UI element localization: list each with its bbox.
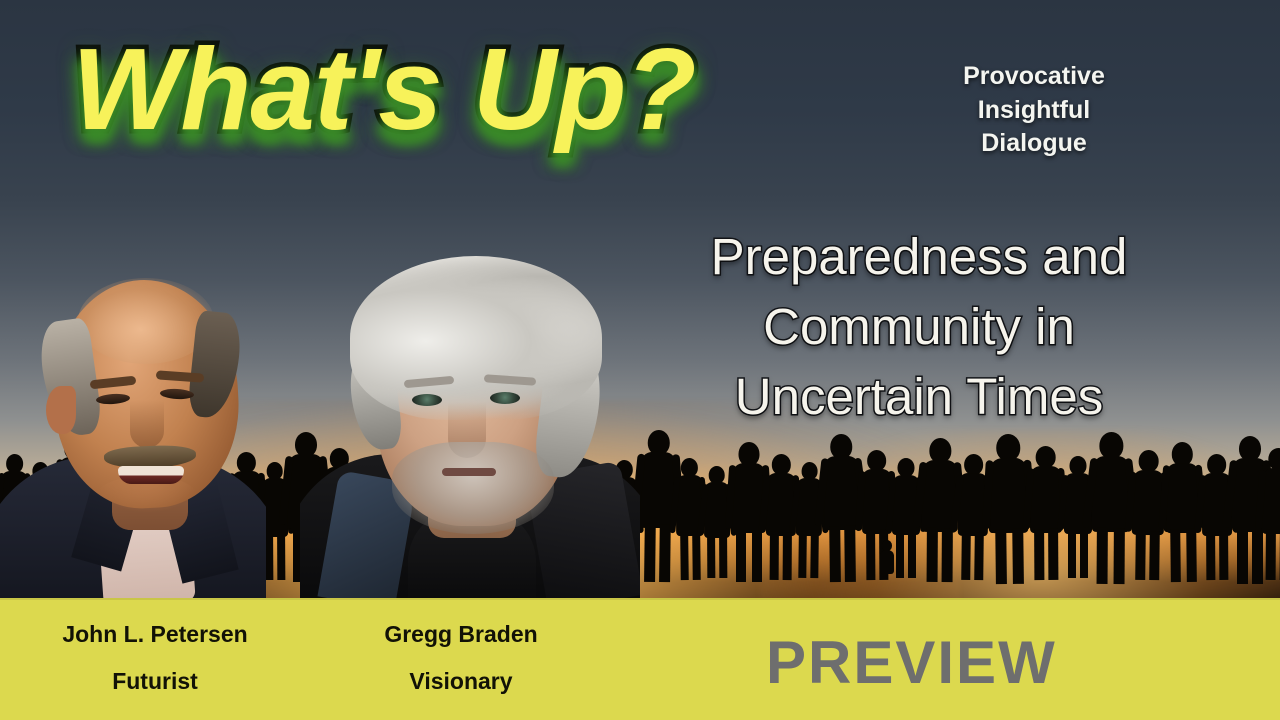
bottom-info-bar: John L. Petersen Futurist Gregg Braden V… bbox=[0, 598, 1280, 720]
portrait-left-nose bbox=[130, 400, 164, 448]
episode-subtitle: Preparedness and Community in Uncertain … bbox=[636, 222, 1202, 432]
speaker-block-1: John L. Petersen Futurist bbox=[30, 622, 280, 695]
portrait-gregg-braden bbox=[300, 252, 640, 600]
portrait-left-mouth bbox=[118, 466, 184, 484]
crowd-silhouette bbox=[823, 434, 861, 582]
portrait-right-eye-left bbox=[412, 394, 442, 406]
speaker-1-role: Futurist bbox=[30, 669, 280, 694]
preview-badge: PREVIEW bbox=[766, 628, 1057, 697]
portrait-right-mouth bbox=[442, 468, 496, 476]
speaker-2-name: Gregg Braden bbox=[350, 622, 572, 647]
portrait-right-beard bbox=[392, 442, 554, 534]
speaker-block-2: Gregg Braden Visionary bbox=[350, 622, 572, 695]
crowd-silhouette-child bbox=[880, 540, 894, 580]
subtitle-line-1: Preparedness and bbox=[636, 222, 1202, 292]
tagline-line-1: Provocative bbox=[906, 60, 1162, 94]
crowd-silhouette bbox=[989, 434, 1029, 584]
speaker-1-name: John L. Petersen bbox=[30, 622, 280, 647]
page-title: What's Up? bbox=[72, 22, 695, 156]
crowd-silhouette bbox=[1030, 446, 1063, 580]
crowd-silhouette bbox=[1092, 432, 1131, 584]
subtitle-line-2: Community in bbox=[636, 292, 1202, 362]
video-thumbnail: What's Up? Provocative Insightful Dialog… bbox=[0, 0, 1280, 720]
crowd-silhouette bbox=[1262, 448, 1280, 580]
portrait-left-ear bbox=[46, 386, 76, 434]
tagline-line-2: Insightful bbox=[906, 94, 1162, 128]
portrait-right-eye-right bbox=[490, 392, 520, 404]
speaker-2-role: Visionary bbox=[350, 669, 572, 694]
portrait-right-hair-top bbox=[350, 256, 602, 420]
tagline-block: Provocative Insightful Dialogue bbox=[906, 60, 1162, 161]
subtitle-line-3: Uncertain Times bbox=[636, 362, 1202, 432]
tagline-line-3: Dialogue bbox=[906, 127, 1162, 161]
portrait-john-l-petersen bbox=[0, 268, 266, 600]
